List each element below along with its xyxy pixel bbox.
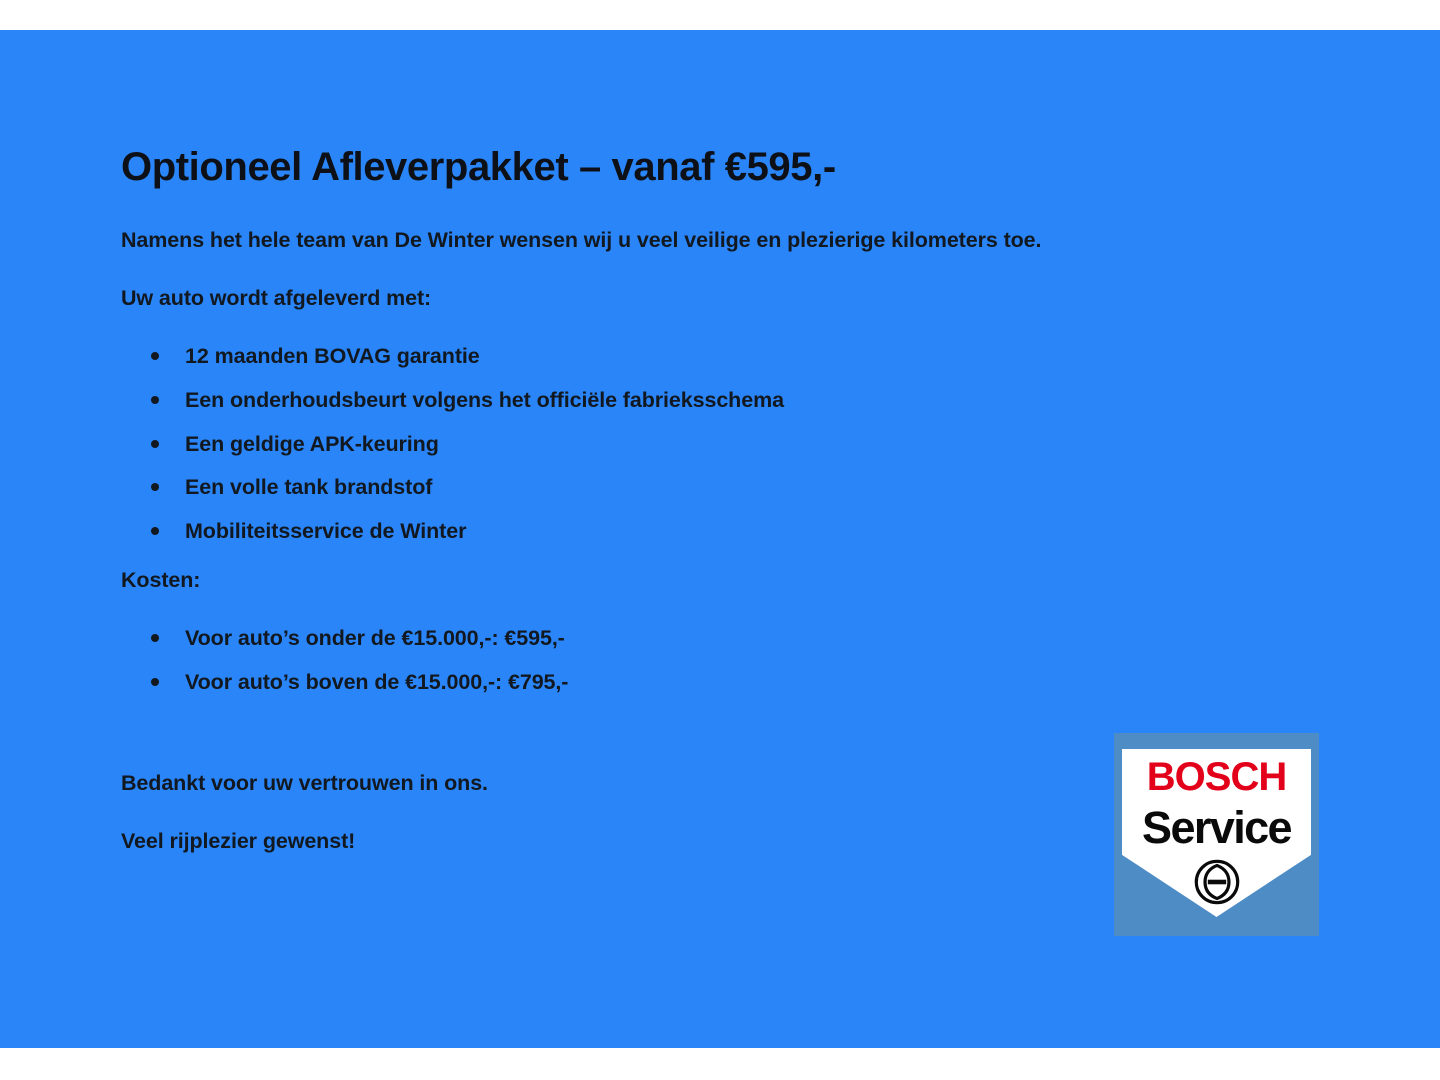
list-item: 12 maanden BOVAG garantie: [121, 343, 1301, 370]
list-item: Mobiliteitsservice de Winter: [121, 518, 1301, 545]
list-item: Voor auto’s boven de €15.000,-: €795,-: [121, 669, 1301, 696]
costs-list: Voor auto’s onder de €15.000,-: €595,- V…: [121, 625, 1301, 696]
bullet-dot-icon: [151, 352, 159, 360]
delivery-list: 12 maanden BOVAG garantie Een onderhouds…: [121, 343, 1301, 545]
list-item-label: Voor auto’s boven de €15.000,-: €795,-: [185, 670, 568, 694]
costs-heading: Kosten:: [121, 567, 1301, 594]
bullet-dot-icon: [151, 634, 159, 642]
bullet-dot-icon: [151, 483, 159, 491]
list-item: Een onderhoudsbeurt volgens het officiël…: [121, 387, 1301, 414]
bullet-dot-icon: [151, 396, 159, 404]
page-title: Optioneel Afleverpakket – vanaf €595,-: [121, 145, 1301, 189]
list-item-label: Mobiliteitsservice de Winter: [185, 519, 466, 543]
bullet-dot-icon: [151, 527, 159, 535]
bullet-dot-icon: [151, 678, 159, 686]
list-item: Voor auto’s onder de €15.000,-: €595,-: [121, 625, 1301, 652]
service-wordmark: Service: [1114, 805, 1319, 850]
bosch-service-logo: BOSCH Service: [1114, 733, 1319, 936]
list-item-label: 12 maanden BOVAG garantie: [185, 344, 480, 368]
list-item-label: Voor auto’s onder de €15.000,-: €595,-: [185, 626, 565, 650]
list-item-label: Een onderhoudsbeurt volgens het officiël…: [185, 388, 784, 412]
slide-canvas: Optioneel Afleverpakket – vanaf €595,- N…: [0, 30, 1440, 1048]
list-item-label: Een volle tank brandstof: [185, 475, 432, 499]
list-item: Een volle tank brandstof: [121, 474, 1301, 501]
list-item: Een geldige APK-keuring: [121, 431, 1301, 458]
bosch-wordmark: BOSCH: [1114, 757, 1319, 797]
delivery-heading: Uw auto wordt afgeleverd met:: [121, 285, 1301, 312]
bosch-armature-icon: [1194, 859, 1240, 905]
intro-paragraph: Namens het hele team van De Winter wense…: [121, 227, 1301, 254]
bullet-dot-icon: [151, 440, 159, 448]
list-item-label: Een geldige APK-keuring: [185, 432, 439, 456]
